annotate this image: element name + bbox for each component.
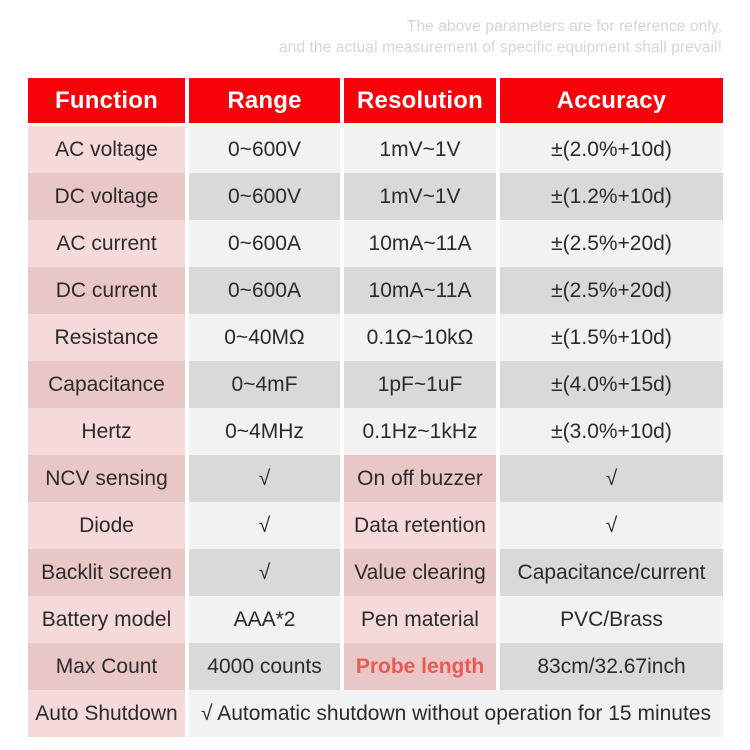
cell-resolution: 0.1Ω~10kΩ: [344, 314, 496, 361]
cell-resolution: 1mV~1V: [344, 126, 496, 173]
cell-accuracy: √: [500, 502, 723, 549]
cell-accuracy: ±(1.2%+10d): [500, 173, 723, 220]
table-body: AC voltage0~600V1mV~1V±(2.0%+10d)DC volt…: [28, 126, 723, 737]
cell-accuracy: ±(4.0%+15d): [500, 361, 723, 408]
table-row: Resistance0~40MΩ0.1Ω~10kΩ±(1.5%+10d): [28, 314, 723, 361]
table-row: Battery modelAAA*2Pen materialPVC/Brass: [28, 596, 723, 643]
cell-accuracy: 83cm/32.67inch: [500, 643, 723, 690]
cell-accuracy: ±(2.0%+10d): [500, 126, 723, 173]
row-label: DC current: [28, 267, 185, 314]
column-header-function: Function: [28, 78, 185, 123]
cell-range: 0~4MHz: [189, 408, 340, 455]
cell-accuracy: ±(2.5%+20d): [500, 267, 723, 314]
disclaimer-line-1: The above parameters are for reference o…: [0, 16, 722, 37]
cell-accuracy: Capacitance/current: [500, 549, 723, 596]
row-label: Battery model: [28, 596, 185, 643]
cell-resolution: 10mA~11A: [344, 220, 496, 267]
row-label: Resistance: [28, 314, 185, 361]
specification-table: Function Range Resolution Accuracy AC vo…: [28, 78, 723, 737]
table-row: AC voltage0~600V1mV~1V±(2.0%+10d): [28, 126, 723, 173]
table-header: Function Range Resolution Accuracy: [28, 78, 723, 126]
column-header-accuracy: Accuracy: [500, 78, 723, 123]
row-label: Backlit screen: [28, 549, 185, 596]
disclaimer-note: The above parameters are for reference o…: [0, 16, 722, 58]
cell-resolution: 10mA~11A: [344, 267, 496, 314]
cell-range: √: [189, 549, 340, 596]
cell-resolution: Pen material: [344, 596, 496, 643]
table-row: Capacitance0~4mF1pF~1uF±(4.0%+15d): [28, 361, 723, 408]
table-row: AC current0~600A10mA~11A±(2.5%+20d): [28, 220, 723, 267]
cell-accuracy: √: [500, 455, 723, 502]
table-header-row: Function Range Resolution Accuracy: [28, 78, 723, 123]
spec-sheet-page: The above parameters are for reference o…: [0, 0, 750, 750]
cell-range: 0~600V: [189, 126, 340, 173]
cell-accuracy: ±(2.5%+20d): [500, 220, 723, 267]
row-label: Hertz: [28, 408, 185, 455]
row-label: Diode: [28, 502, 185, 549]
row-label: AC current: [28, 220, 185, 267]
row-label: Max Count: [28, 643, 185, 690]
row-label: DC voltage: [28, 173, 185, 220]
table-row: Max Count4000 countsProbe length83cm/32.…: [28, 643, 723, 690]
cell-range: 0~600V: [189, 173, 340, 220]
cell-resolution: 0.1Hz~1kHz: [344, 408, 496, 455]
table-row: Diode√Data retention√: [28, 502, 723, 549]
table-row: NCV sensing√On off buzzer√: [28, 455, 723, 502]
cell-resolution: On off buzzer: [344, 455, 496, 502]
cell-range: √: [189, 502, 340, 549]
cell-accuracy: PVC/Brass: [500, 596, 723, 643]
cell-range: √: [189, 455, 340, 502]
table-row-auto-shutdown: Auto Shutdown√ Automatic shutdown withou…: [28, 690, 723, 737]
table-row: DC current0~600A10mA~11A±(2.5%+20d): [28, 267, 723, 314]
cell-range: 0~40MΩ: [189, 314, 340, 361]
column-header-range: Range: [189, 78, 340, 123]
cell-auto-shutdown-value: √ Automatic shutdown without operation f…: [189, 690, 723, 737]
cell-resolution: 1pF~1uF: [344, 361, 496, 408]
cell-range: 0~600A: [189, 267, 340, 314]
cell-accuracy: ±(1.5%+10d): [500, 314, 723, 361]
row-label: NCV sensing: [28, 455, 185, 502]
cell-range: AAA*2: [189, 596, 340, 643]
row-label: Capacitance: [28, 361, 185, 408]
cell-resolution: Probe length: [344, 643, 496, 690]
disclaimer-line-2: and the actual measurement of specific e…: [0, 37, 722, 58]
cell-resolution: Data retention: [344, 502, 496, 549]
table-row: Backlit screen√Value clearingCapacitance…: [28, 549, 723, 596]
column-header-resolution: Resolution: [344, 78, 496, 123]
cell-resolution: Value clearing: [344, 549, 496, 596]
cell-range: 0~600A: [189, 220, 340, 267]
row-label: AC voltage: [28, 126, 185, 173]
table-row: DC voltage0~600V1mV~1V±(1.2%+10d): [28, 173, 723, 220]
cell-resolution: 1mV~1V: [344, 173, 496, 220]
cell-range: 0~4mF: [189, 361, 340, 408]
row-label-auto-shutdown: Auto Shutdown: [28, 690, 185, 737]
cell-range: 4000 counts: [189, 643, 340, 690]
cell-accuracy: ±(3.0%+10d): [500, 408, 723, 455]
table-row: Hertz0~4MHz0.1Hz~1kHz±(3.0%+10d): [28, 408, 723, 455]
